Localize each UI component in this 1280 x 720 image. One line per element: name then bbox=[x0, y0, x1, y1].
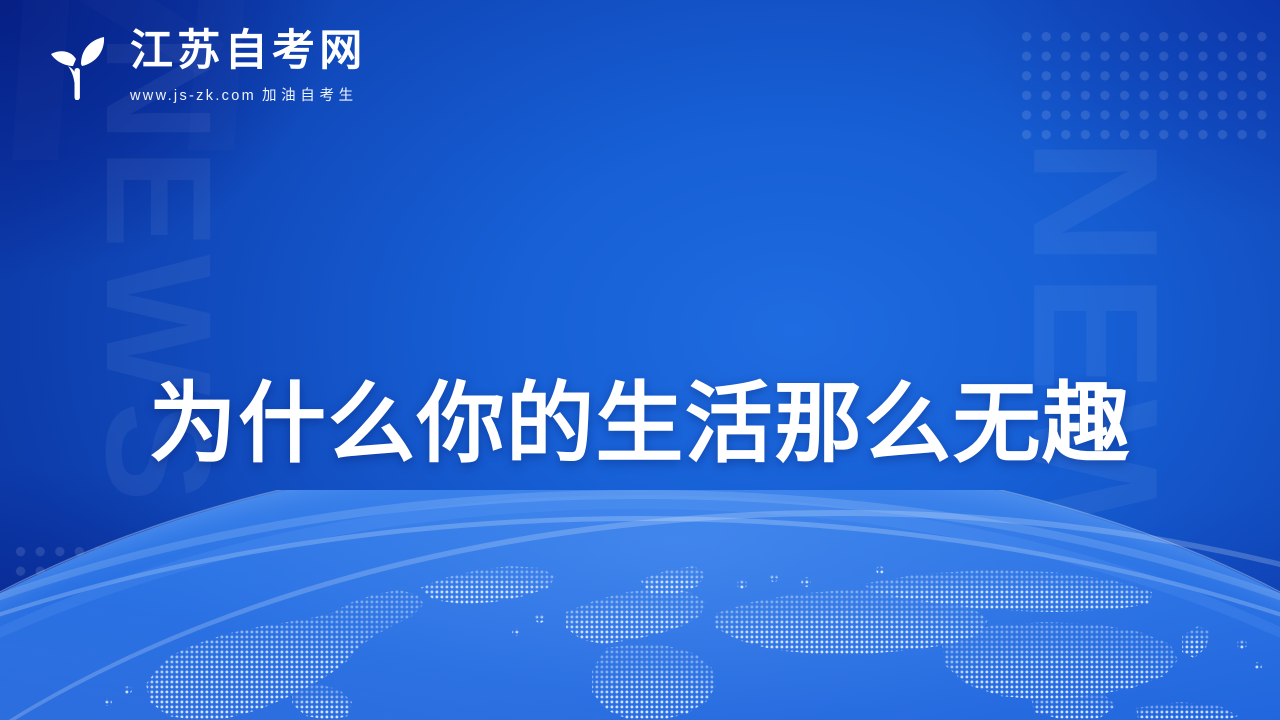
sprout-icon bbox=[34, 28, 112, 106]
site-url: www.js-zk.com bbox=[130, 88, 256, 104]
dotted-world-map bbox=[0, 540, 1280, 720]
site-logo[interactable]: 江苏自考网 www.js-zk.com加油自考生 bbox=[34, 28, 367, 106]
logo-text-block: 江苏自考网 www.js-zk.com加油自考生 bbox=[130, 29, 367, 104]
globe-graphic bbox=[0, 490, 1280, 720]
headline-title: 为什么你的生活那么无趣 bbox=[0, 377, 1280, 476]
news-banner: NEWS NEWS bbox=[0, 0, 1280, 720]
site-tagline: www.js-zk.com加油自考生 bbox=[130, 84, 367, 105]
site-name: 江苏自考网 bbox=[130, 29, 367, 74]
site-slogan: 加油自考生 bbox=[262, 88, 358, 104]
dot-grid-top-right bbox=[1022, 32, 1268, 142]
